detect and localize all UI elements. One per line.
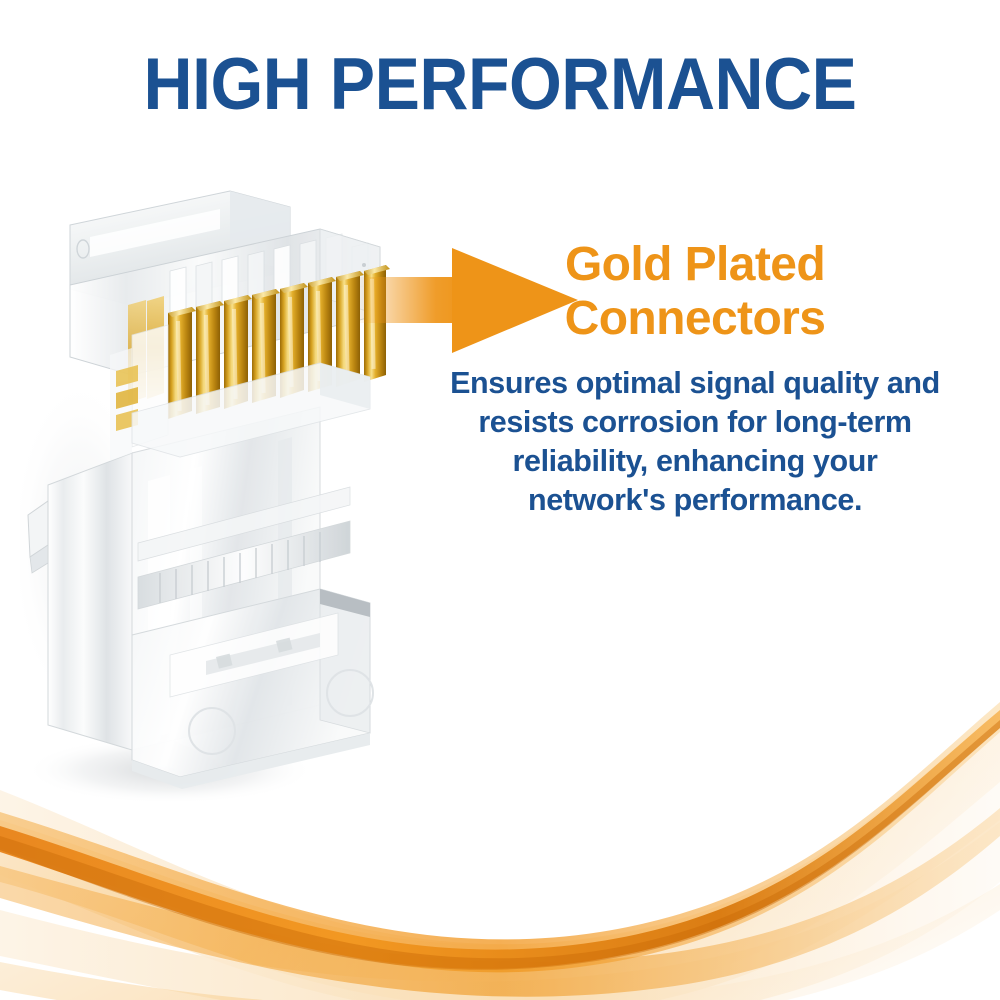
callout-description: Ensures optimal signal quality and resis… bbox=[440, 364, 950, 520]
callout-title-line-2: Connectors bbox=[440, 292, 950, 346]
wave-lower-soft bbox=[0, 822, 1000, 1000]
page-title: HIGH PERFORMANCE bbox=[35, 48, 965, 121]
wave-cross bbox=[0, 808, 1000, 997]
callout-title-line-1: Gold Plated bbox=[440, 238, 950, 292]
callout-text-block: Gold Plated Connectors Ensures optimal s… bbox=[440, 238, 950, 520]
wave-tail bbox=[0, 884, 1000, 1000]
promo-banner: HIGH PERFORMANCE bbox=[0, 0, 1000, 1000]
callout-title: Gold Plated Connectors bbox=[440, 238, 950, 346]
